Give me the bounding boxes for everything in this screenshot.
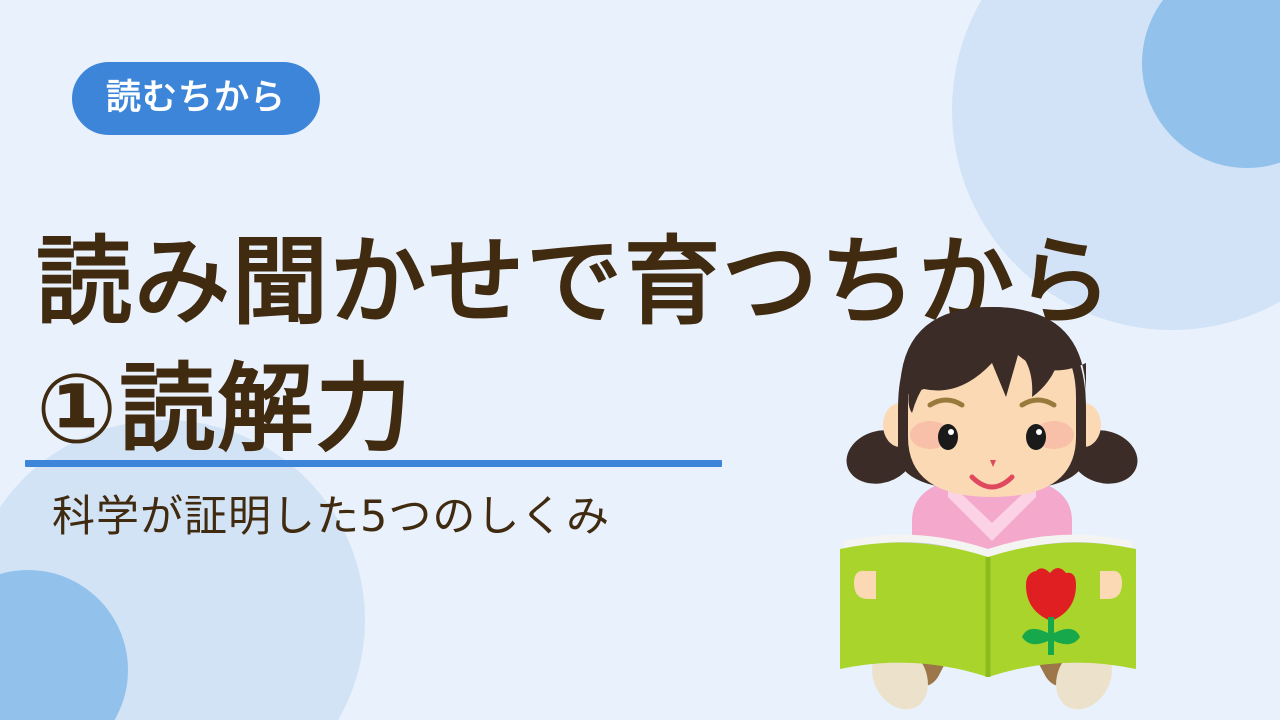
category-badge: 読むちから bbox=[72, 62, 320, 135]
slide-canvas: 読むちから 読み聞かせで育つちから ①読解力 科学が証明した5つのしくみ bbox=[0, 0, 1280, 720]
page-subtitle: 科学が証明した5つのしくみ bbox=[52, 492, 610, 544]
slide-content: 読むちから 読み聞かせで育つちから ①読解力 科学が証明した5つのしくみ bbox=[0, 0, 1280, 720]
head-group bbox=[840, 307, 1144, 497]
girl-reading-illustration bbox=[820, 285, 1160, 715]
category-badge-label: 読むちから bbox=[106, 81, 286, 116]
open-book bbox=[840, 535, 1136, 677]
title-divider bbox=[25, 460, 722, 467]
